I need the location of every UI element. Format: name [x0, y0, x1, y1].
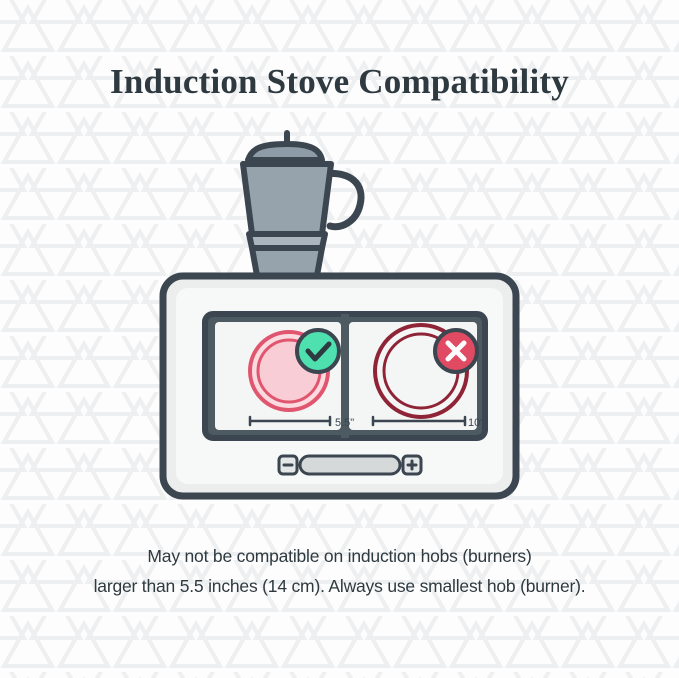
left-hob-size-label: 5.5"	[335, 417, 354, 429]
caption-line-2: larger than 5.5 inches (14 cm). Always u…	[0, 576, 679, 597]
moka-pot	[243, 133, 361, 292]
power-slider	[300, 456, 400, 474]
caption-line-1: May not be compatible on induction hobs …	[0, 546, 679, 567]
right-hob-size-label: 10"	[468, 417, 484, 429]
